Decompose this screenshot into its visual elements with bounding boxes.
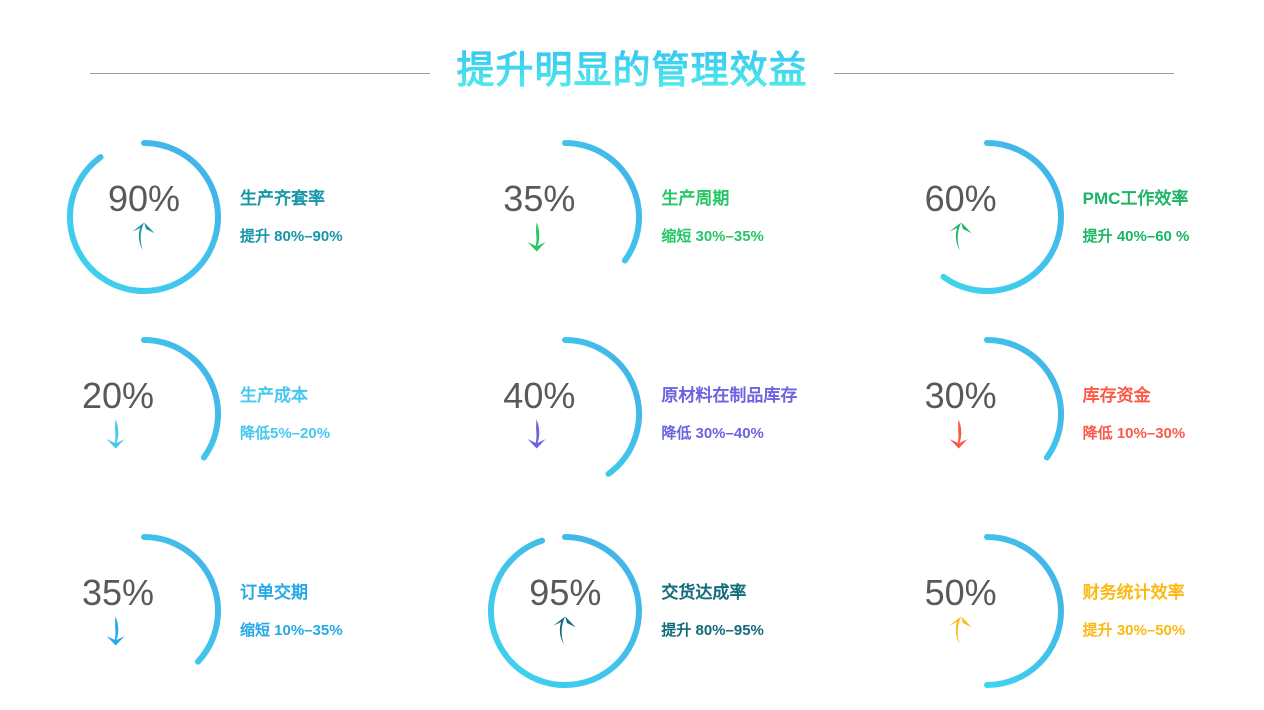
stat-labels: 生产周期缩短 30%–35%	[661, 190, 764, 244]
gauge-center: 90%	[58, 131, 230, 303]
stat-card-production-cycle: 35%生产周期缩短 30%–35%	[421, 118, 842, 315]
stat-card-delivery-achievement-rate: 95%交货达成率提升 80%–95%	[421, 513, 842, 710]
gauge-value: 35%	[82, 575, 154, 611]
stat-subtitle: 提升 80%–90%	[240, 229, 343, 244]
stat-labels: 原材料在制品库存降低 30%–40%	[661, 387, 797, 441]
gauge-production-cycle: 35%	[479, 131, 651, 303]
stat-subtitle: 缩短 30%–35%	[661, 229, 764, 244]
gauge-center: 95%	[479, 525, 651, 697]
gauge-inventory-capital: 30%	[901, 328, 1073, 500]
gauge-value: 40%	[503, 378, 575, 414]
gauge-center: 30%	[875, 328, 1047, 500]
stat-title: 生产齐套率	[240, 190, 343, 207]
gauge-production-kitting-rate: 90%	[58, 131, 230, 303]
stat-card-grid: 90%生产齐套率提升 80%–90%35%生产周期缩短 30%–35%60%PM…	[0, 118, 1264, 710]
gauge-center: 35%	[453, 131, 625, 303]
gauge-production-cost: 20%	[58, 328, 230, 500]
gauge-center: 40%	[453, 328, 625, 500]
gauge-value: 35%	[503, 181, 575, 217]
stat-subtitle: 提升 80%–95%	[661, 623, 764, 638]
stat-subtitle: 降低 30%–40%	[661, 426, 797, 441]
stat-card-pmc-work-efficiency: 60%PMC工作效率提升 40%–60 %	[843, 118, 1264, 315]
arrow-up-icon	[129, 221, 159, 253]
gauge-value: 50%	[925, 575, 997, 611]
arrow-up-icon	[946, 615, 976, 647]
stat-title: 交货达成率	[661, 584, 764, 601]
gauge-center: 20%	[32, 328, 204, 500]
gauge-value: 95%	[529, 575, 601, 611]
page-title: 提升明显的管理效益	[452, 46, 811, 100]
stat-title: 库存资金	[1083, 387, 1186, 404]
gauge-finance-statistics-efficiency: 50%	[901, 525, 1073, 697]
stat-subtitle: 提升 40%–60 %	[1083, 229, 1190, 244]
stat-card-order-lead-time: 35%订单交期缩短 10%–35%	[0, 513, 421, 710]
gauge-center: 35%	[32, 525, 204, 697]
stat-title: PMC工作效率	[1083, 190, 1190, 207]
stat-card-finance-statistics-efficiency: 50%财务统计效率提升 30%–50%	[843, 513, 1264, 710]
gauge-pmc-work-efficiency: 60%	[901, 131, 1073, 303]
gauge-value: 90%	[108, 181, 180, 217]
gauge-raw-material-wip-inventory: 40%	[479, 328, 651, 500]
arrow-down-icon	[946, 418, 976, 450]
stat-labels: 生产齐套率提升 80%–90%	[240, 190, 343, 244]
gauge-delivery-achievement-rate: 95%	[479, 525, 651, 697]
stat-labels: 库存资金降低 10%–30%	[1083, 387, 1186, 441]
arrow-down-icon	[524, 221, 554, 253]
gauge-value: 20%	[82, 378, 154, 414]
arrow-down-icon	[103, 418, 133, 450]
gauge-center: 60%	[875, 131, 1047, 303]
stat-title: 订单交期	[240, 584, 343, 601]
stat-card-production-kitting-rate: 90%生产齐套率提升 80%–90%	[0, 118, 421, 315]
stat-labels: PMC工作效率提升 40%–60 %	[1083, 190, 1190, 244]
stat-title: 财务统计效率	[1083, 584, 1186, 601]
stat-labels: 财务统计效率提升 30%–50%	[1083, 584, 1186, 638]
gauge-order-lead-time: 35%	[58, 525, 230, 697]
stat-subtitle: 缩短 10%–35%	[240, 623, 343, 638]
arrow-down-icon	[524, 418, 554, 450]
arrow-up-icon	[550, 615, 580, 647]
title-rule-right	[834, 73, 1174, 74]
stat-subtitle: 降低 10%–30%	[1083, 426, 1186, 441]
stat-card-production-cost: 20%生产成本降低5%–20%	[0, 315, 421, 512]
stat-title: 原材料在制品库存	[661, 387, 797, 404]
gauge-value: 30%	[925, 378, 997, 414]
stat-labels: 生产成本降低5%–20%	[240, 387, 330, 441]
stat-title: 生产成本	[240, 387, 330, 404]
stat-labels: 交货达成率提升 80%–95%	[661, 584, 764, 638]
gauge-value: 60%	[925, 181, 997, 217]
page-header: 提升明显的管理效益	[0, 40, 1264, 106]
arrow-up-icon	[946, 221, 976, 253]
stat-title: 生产周期	[661, 190, 764, 207]
title-rule-left	[90, 73, 430, 74]
stat-subtitle: 降低5%–20%	[240, 426, 330, 441]
stat-card-raw-material-wip-inventory: 40%原材料在制品库存降低 30%–40%	[421, 315, 842, 512]
stat-card-inventory-capital: 30%库存资金降低 10%–30%	[843, 315, 1264, 512]
stat-subtitle: 提升 30%–50%	[1083, 623, 1186, 638]
gauge-center: 50%	[875, 525, 1047, 697]
arrow-down-icon	[103, 615, 133, 647]
stat-labels: 订单交期缩短 10%–35%	[240, 584, 343, 638]
